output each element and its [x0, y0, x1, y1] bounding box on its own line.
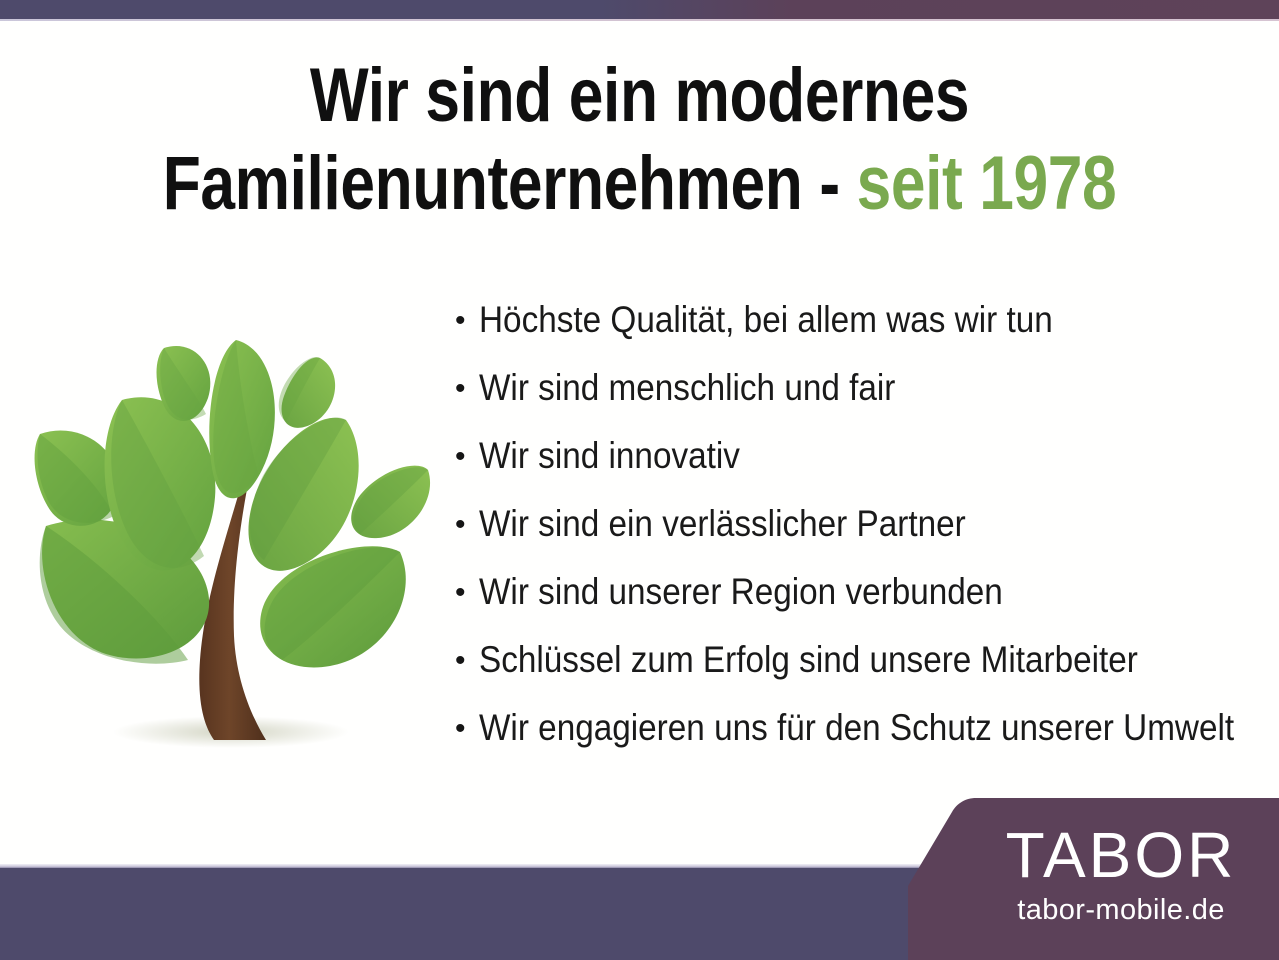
benefits-list: • Höchste Qualität, bei allem was wir tu… [455, 298, 1265, 774]
list-item: • Höchste Qualität, bei allem was wir tu… [455, 298, 1265, 366]
tree-illustration [28, 330, 442, 762]
brand-logo[interactable]: TABOR tabor-mobile.de [908, 798, 1279, 960]
logo-wordmark: TABOR [976, 822, 1266, 888]
bullet-icon: • [455, 510, 479, 540]
list-item-label: Wir sind ein verlässlicher Partner [479, 502, 966, 546]
list-item: • Wir engagieren uns für den Schutz unse… [455, 706, 1265, 774]
list-item-label: Wir sind menschlich und fair [479, 366, 895, 410]
bullet-icon: • [455, 714, 479, 744]
bullet-icon: • [455, 646, 479, 676]
headline-line-2: Familienunternehmen - seit 1978 [115, 140, 1164, 228]
headline-line-1: Wir sind ein modernes [115, 52, 1164, 140]
page-title: Wir sind ein modernes Familienunternehme… [115, 52, 1164, 228]
list-item: • Wir sind menschlich und fair [455, 366, 1265, 434]
list-item-label: Wir engagieren uns für den Schutz unsere… [479, 706, 1234, 750]
headline-line-2-main: Familienunternehmen - [163, 141, 857, 226]
list-item-label: Wir sind unserer Region verbunden [479, 570, 1003, 614]
bullet-icon: • [455, 578, 479, 608]
top-accent-bar-highlight [0, 19, 1279, 21]
headline-accent: seit 1978 [857, 141, 1117, 226]
list-item-label: Schlüssel zum Erfolg sind unsere Mitarbe… [479, 638, 1138, 682]
bullet-icon: • [455, 374, 479, 404]
list-item-label: Wir sind innovativ [479, 434, 740, 478]
list-item: • Schlüssel zum Erfolg sind unsere Mitar… [455, 638, 1265, 706]
bullet-icon: • [455, 442, 479, 472]
tree-illustration-svg [28, 330, 442, 762]
list-item: • Wir sind ein verlässlicher Partner [455, 502, 1265, 570]
slide-canvas: Wir sind ein modernes Familienunternehme… [0, 0, 1279, 960]
list-item: • Wir sind unserer Region verbunden [455, 570, 1265, 638]
list-item: • Wir sind innovativ [455, 434, 1265, 502]
list-item-label: Höchste Qualität, bei allem was wir tun [479, 298, 1053, 342]
top-accent-bar [0, 0, 1279, 19]
logo-url[interactable]: tabor-mobile.de [976, 894, 1266, 926]
bullet-icon: • [455, 306, 479, 336]
